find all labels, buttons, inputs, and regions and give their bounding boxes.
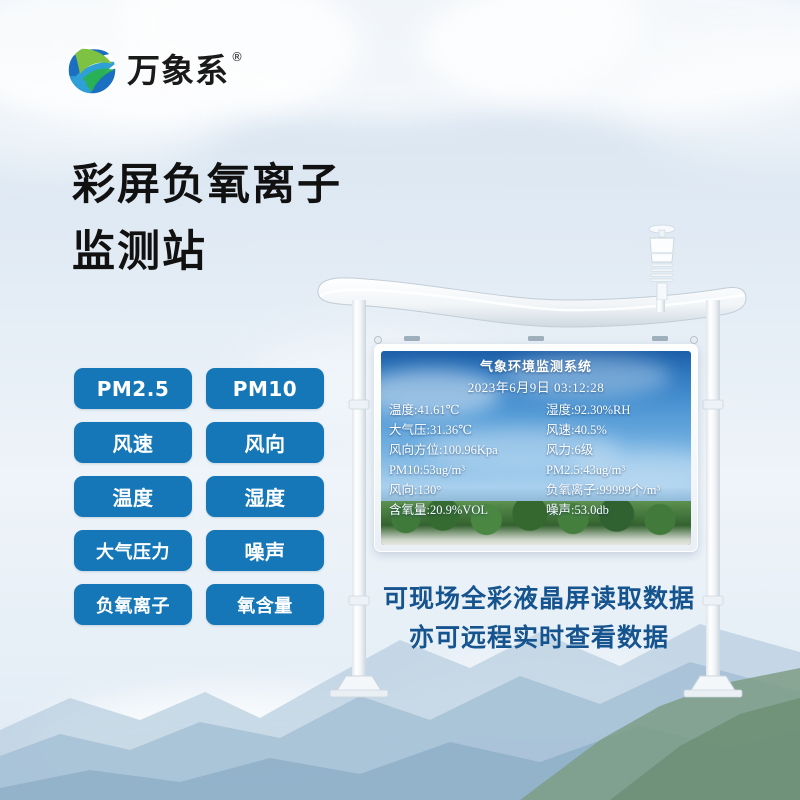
reading-label: 大气压 (389, 423, 427, 437)
readings-grid: 温度:41.61℃ 湿度:92.30%RH 大气压:31.36℃ 风速:40.5… (381, 401, 691, 520)
display-title: 气象环境监测系统 (381, 356, 691, 375)
reading-value: 41.61℃ (418, 403, 460, 417)
reading-label: 湿度 (546, 403, 571, 417)
lcd-display-bezel: 气象环境监测系统 2023年6月9日 03:12:28 温度:41.61℃ 湿度… (374, 344, 698, 552)
headline-line-2: 监测站 (72, 219, 342, 286)
globe-swirl-icon (66, 44, 118, 96)
feature-tag-wind-speed[interactable]: 风速 (74, 422, 192, 463)
reading-label: 风力 (546, 443, 571, 457)
caption-line-1: 可现场全彩液晶屏读取数据 (374, 580, 704, 619)
display-datetime: 2023年6月9日 03:12:28 (381, 377, 691, 396)
brand-name: 万象系 ® (127, 54, 229, 87)
reading-wind-force: 风力:6级 (538, 441, 683, 460)
reading-value: 6级 (575, 443, 594, 457)
reading-negative-oxygen-ion: 负氧离子:99999个/m³ (538, 481, 683, 500)
feature-tag-grid: PM2.5 PM10 风速 风向 温度 湿度 大气压力 噪声 负氧离子 氧含量 (74, 368, 324, 625)
feature-tag-air-pressure[interactable]: 大气压力 (74, 530, 192, 571)
reading-value: 53ug/m³ (423, 463, 465, 477)
brand-name-text: 万象系 (127, 51, 229, 90)
reading-label: 风速 (546, 423, 571, 437)
reading-label: 噪声 (546, 503, 571, 517)
reading-value: 31.36℃ (430, 423, 472, 437)
reading-label: 含氧量 (389, 503, 427, 517)
brand-logo: 万象系 ® (66, 44, 229, 96)
feature-tag-pm25[interactable]: PM2.5 (74, 368, 192, 409)
reading-value: 20.9%VOL (430, 503, 488, 517)
feature-tag-humidity[interactable]: 湿度 (206, 476, 324, 517)
reading-pm10: PM10:53ug/m³ (389, 461, 534, 480)
page-title: 彩屏负氧离子 监测站 (72, 152, 342, 285)
reading-oxygen-content: 含氧量:20.9%VOL (389, 501, 534, 520)
reading-label: PM2.5 (546, 463, 580, 477)
reading-air-pressure: 大气压:31.36℃ (389, 421, 534, 440)
feature-tag-negative-oxygen-ion[interactable]: 负氧离子 (74, 584, 192, 625)
lcd-display-screen[interactable]: 气象环境监测系统 2023年6月9日 03:12:28 温度:41.61℃ 湿度… (381, 351, 691, 545)
sensor-body (650, 238, 674, 262)
feature-caption: 可现场全彩液晶屏读取数据 亦可远程实时查看数据 (374, 580, 704, 658)
reading-label: 负氧离子 (546, 483, 596, 497)
reading-value: 130° (418, 483, 442, 497)
reading-value: 40.5% (575, 423, 607, 437)
reading-label: 风向方位 (389, 443, 439, 457)
reading-wind-speed: 风速:40.5% (538, 421, 683, 440)
feature-tag-pm10[interactable]: PM10 (206, 368, 324, 409)
feature-tag-temperature[interactable]: 温度 (74, 476, 192, 517)
reading-wind-direction: 风向:130° (389, 481, 534, 500)
feature-tag-noise[interactable]: 噪声 (206, 530, 324, 571)
reading-value: 99999个/m³ (600, 483, 661, 497)
registered-mark: ® (231, 51, 244, 63)
reading-noise: 噪声:53.0db (538, 501, 683, 520)
reading-label: PM10 (389, 463, 420, 477)
reading-value: 43ug/m³ (583, 463, 625, 477)
reading-value: 92.30%RH (575, 403, 631, 417)
reading-label: 温度 (389, 403, 414, 417)
reading-label: 风向 (389, 483, 414, 497)
reading-temperature: 温度:41.61℃ (389, 401, 534, 420)
reading-humidity: 湿度:92.30%RH (538, 401, 683, 420)
reading-value: 100.96Kpa (443, 443, 498, 457)
feature-tag-wind-direction[interactable]: 风向 (206, 422, 324, 463)
reading-pm25: PM2.5:43ug/m³ (538, 461, 683, 480)
weather-sensor-pod (640, 222, 684, 300)
caption-line-2: 亦可远程实时查看数据 (374, 619, 704, 658)
product-banner: 万象系 ® 彩屏负氧离子 监测站 PM2.5 PM10 风速 风向 温度 湿度 … (0, 0, 800, 800)
reading-value: 53.0db (575, 503, 609, 517)
feature-tag-oxygen-content[interactable]: 氧含量 (206, 584, 324, 625)
reading-wind-bearing: 风向方位:100.96Kpa (389, 441, 534, 460)
headline-line-1: 彩屏负氧离子 (72, 152, 342, 219)
